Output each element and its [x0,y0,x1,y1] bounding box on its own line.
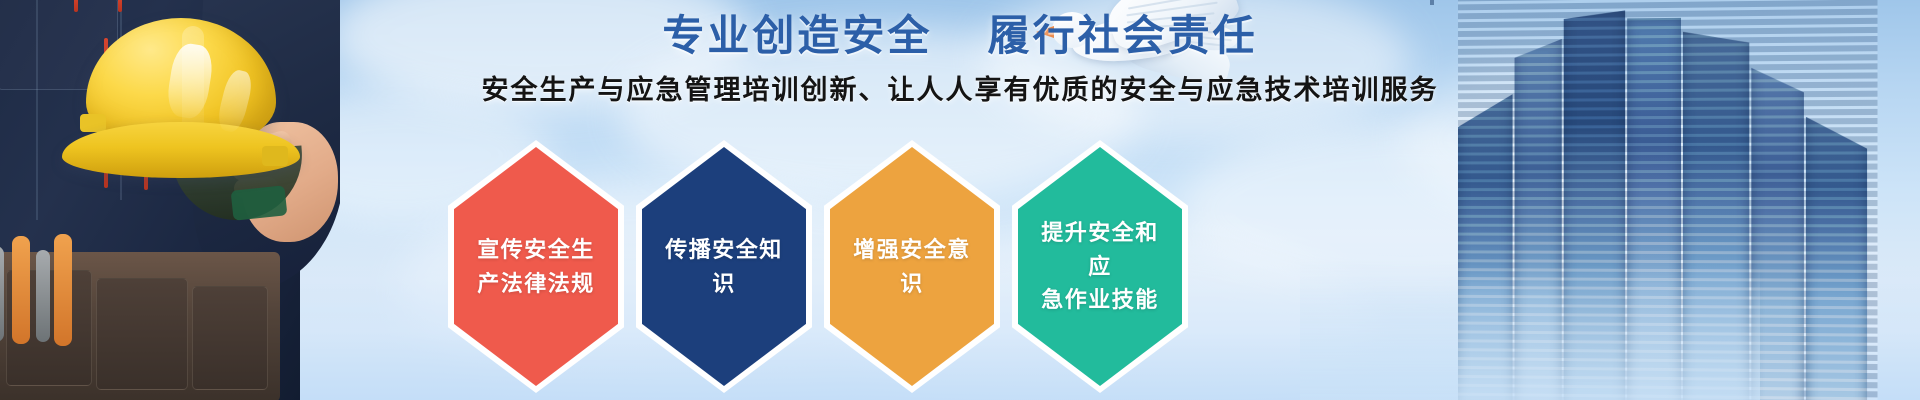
hexagon-badge-4-line1: 提升安全和应 [1032,216,1168,283]
tool-belt [0,252,280,400]
hexagon-badge-1-line2: 产法律法规 [477,267,595,300]
hat-clip [262,146,288,166]
hexagon-badge-1-fill: 宣传安全生 产法律法规 [454,147,618,386]
banner-subtitle: 安全生产与应急管理培训创新、让人人享有优质的安全与应急技术培训服务 [0,68,1920,107]
hexagon-badge-4[interactable]: 提升安全和应 急作业技能 [1012,140,1188,393]
hexagon-badge-4-fill: 提升安全和应 急作业技能 [1018,147,1182,386]
safety-training-banner: 专业创造安全 履行社会责任 安全生产与应急管理培训创新、让人人享有优质的安全与应… [0,0,1920,400]
hexagon-badge-2[interactable]: 传播安全知识 [636,140,812,393]
banner-headline: 专业创造安全 履行社会责任 [0,2,1920,63]
hexagon-badge-row: 宣传安全生 产法律法规 传播安全知识 增强安全意识 提升安全和应 急作业技能 [448,140,1188,400]
hat-strap-pad [231,185,288,220]
headline-part-1: 专业创造安全 [662,12,932,59]
hexagon-badge-3[interactable]: 增强安全意识 [824,140,1000,393]
hexagon-badge-3-line1: 增强安全意识 [844,233,980,300]
hexagon-badge-4-line2: 急作业技能 [1041,283,1159,316]
hexagon-badge-2-line1: 传播安全知识 [656,233,792,300]
hexagon-badge-1[interactable]: 宣传安全生 产法律法规 [448,140,624,393]
hexagon-badge-1-line1: 宣传安全生 [477,233,595,266]
tower-fog [1300,260,1760,400]
headline-part-2: 履行社会责任 [988,12,1258,59]
hat-clip [80,114,106,132]
hexagon-badge-2-fill: 传播安全知识 [642,147,806,386]
hexagon-badge-3-fill: 增强安全意识 [830,147,994,386]
